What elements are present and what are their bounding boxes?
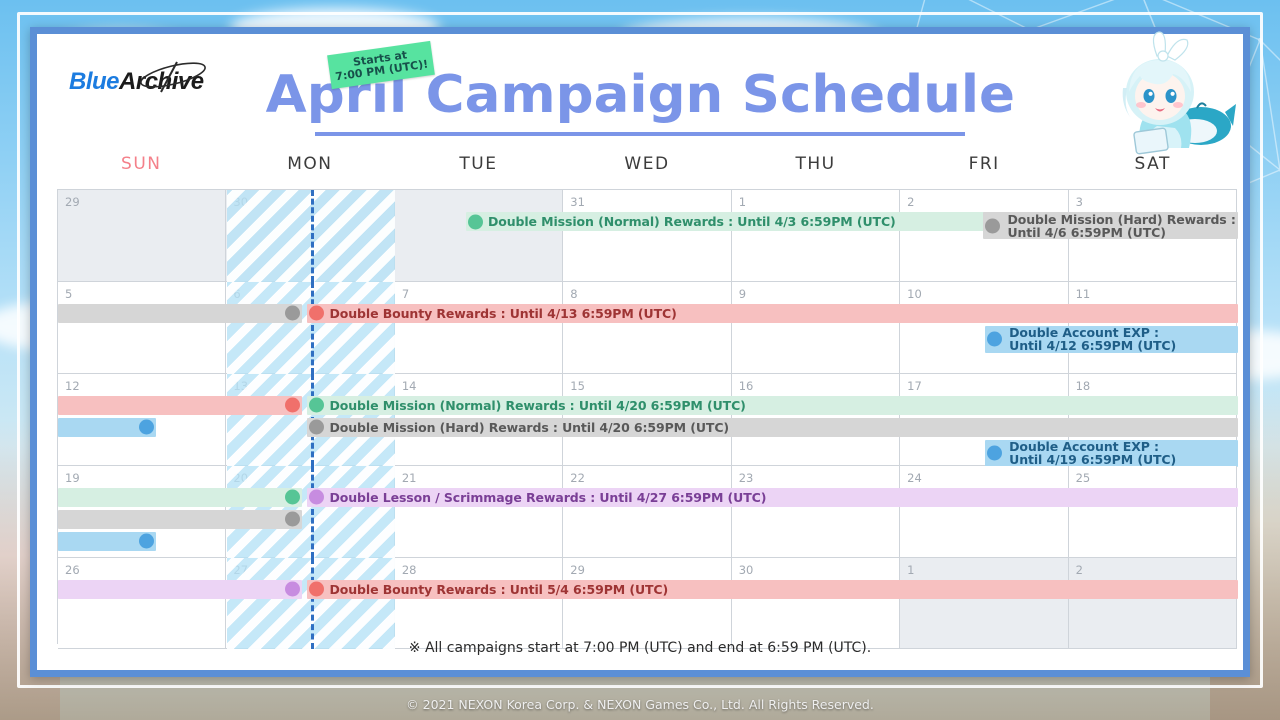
screenshot-stage: BlueArchive April Campaign Schedule — [0, 0, 1280, 720]
schedule-card: BlueArchive April Campaign Schedule — [30, 27, 1250, 677]
calendar-day-cell[interactable]: 21 — [395, 466, 563, 558]
weekday-header-tue: TUE — [394, 154, 563, 184]
calendar-day-cell[interactable]: 18 — [1069, 374, 1237, 466]
calendar-day-number: 24 — [907, 471, 922, 485]
weekday-header: SUNMONTUEWEDTHUFRISAT — [57, 154, 1237, 184]
calendar-day-number: 29 — [65, 195, 80, 209]
calendar-day-cell[interactable] — [395, 190, 563, 282]
calendar-day-number: 28 — [402, 563, 417, 577]
calendar-day-cell[interactable]: 29 — [58, 190, 226, 282]
weekday-header-fri: FRI — [900, 154, 1069, 184]
calendar-day-number: 19 — [65, 471, 80, 485]
calendar-day-number: 2 — [1076, 563, 1083, 577]
calendar-day-number: 5 — [65, 287, 72, 301]
calendar-day-cell[interactable]: 2 — [1069, 558, 1237, 650]
calendar-day-number: 23 — [739, 471, 754, 485]
calendar-grid: 293031123Double Mission (Normal) Rewards… — [57, 189, 1237, 644]
weekday-header-sat: SAT — [1068, 154, 1237, 184]
copyright-text: © 2021 NEXON Korea Corp. & NEXON Games C… — [0, 697, 1280, 712]
calendar-day-cell[interactable]: 1 — [732, 190, 900, 282]
calendar-day-number: 17 — [907, 379, 922, 393]
calendar-day-number: 7 — [402, 287, 409, 301]
calendar-day-number: 26 — [65, 563, 80, 577]
calendar-day-cell[interactable]: 30 — [732, 558, 900, 650]
calendar-day-cell[interactable]: 24 — [900, 466, 1068, 558]
calendar-day-cell[interactable]: 5 — [58, 282, 226, 374]
calendar-day-number: 22 — [570, 471, 585, 485]
calendar-week-row: 567891011Double Bounty Rewards : Until 4… — [58, 282, 1237, 374]
calendar-day-number: 9 — [739, 287, 746, 301]
calendar-day-cell[interactable]: 3 — [1069, 190, 1237, 282]
calendar-day-number: 20 — [233, 471, 248, 485]
calendar-day-number: 6 — [233, 287, 240, 301]
calendar-day-cell[interactable]: 7 — [395, 282, 563, 374]
calendar-day-cell[interactable]: 8 — [563, 282, 731, 374]
calendar-day-number: 1 — [739, 195, 746, 209]
calendar-day-number: 14 — [402, 379, 417, 393]
character-illustration — [1105, 30, 1237, 162]
calendar-day-number: 25 — [1076, 471, 1091, 485]
calendar-day-cell[interactable]: 28 — [395, 558, 563, 650]
calendar-day-number: 8 — [570, 287, 577, 301]
calendar-day-number: 30 — [739, 563, 754, 577]
calendar-day-number: 11 — [1076, 287, 1091, 301]
calendar-day-number: 21 — [402, 471, 417, 485]
calendar-day-cell[interactable]: 15 — [563, 374, 731, 466]
calendar-day-cell[interactable]: 2 — [900, 190, 1068, 282]
calendar-day-cell[interactable]: 14 — [395, 374, 563, 466]
calendar-day-cell[interactable]: 13 — [226, 374, 394, 466]
calendar-day-number: 10 — [907, 287, 922, 301]
calendar-day-number: 16 — [739, 379, 754, 393]
calendar-week-row: 19202122232425Double Lesson / Scrimmage … — [58, 466, 1237, 558]
calendar-day-number: 12 — [65, 379, 80, 393]
calendar-day-number: 30 — [233, 195, 248, 209]
footer-note: ※ All campaigns start at 7:00 PM (UTC) a… — [37, 640, 1243, 656]
calendar-day-number: 18 — [1076, 379, 1091, 393]
calendar-day-cell[interactable]: 12 — [58, 374, 226, 466]
calendar-day-number: 2 — [907, 195, 914, 209]
calendar-week-row: 262728293012Double Bounty Rewards : Unti… — [58, 558, 1237, 650]
calendar-day-cell[interactable]: 9 — [732, 282, 900, 374]
weekday-header-sun: SUN — [57, 154, 226, 184]
calendar-day-cell[interactable]: 1 — [900, 558, 1068, 650]
weekday-header-thu: THU — [731, 154, 900, 184]
calendar-day-cell[interactable]: 27 — [226, 558, 394, 650]
calendar-day-number: 13 — [233, 379, 248, 393]
calendar-day-cell[interactable]: 20 — [226, 466, 394, 558]
weekday-header-mon: MON — [226, 154, 395, 184]
calendar-day-cell[interactable]: 30 — [226, 190, 394, 282]
calendar-week-row: 12131415161718Double Mission (Normal) Re… — [58, 374, 1237, 466]
calendar-day-number: 3 — [1076, 195, 1083, 209]
title-underline — [315, 132, 965, 136]
calendar-day-number: 1 — [907, 563, 914, 577]
calendar-day-cell[interactable]: 6 — [226, 282, 394, 374]
calendar-day-cell[interactable]: 22 — [563, 466, 731, 558]
calendar-day-cell[interactable]: 23 — [732, 466, 900, 558]
page-title-block: April Campaign Schedule — [37, 64, 1243, 136]
calendar-day-cell[interactable]: 31 — [563, 190, 731, 282]
calendar-day-cell[interactable]: 25 — [1069, 466, 1237, 558]
calendar-day-cell[interactable]: 29 — [563, 558, 731, 650]
calendar-day-number: 31 — [570, 195, 585, 209]
calendar-day-cell[interactable]: 26 — [58, 558, 226, 650]
calendar-day-number: 29 — [570, 563, 585, 577]
weekday-header-wed: WED — [563, 154, 732, 184]
calendar-day-number: 15 — [570, 379, 585, 393]
calendar-day-cell[interactable]: 19 — [58, 466, 226, 558]
calendar-week-row: 293031123Double Mission (Normal) Rewards… — [58, 190, 1237, 282]
calendar-day-cell[interactable]: 10 — [900, 282, 1068, 374]
calendar-day-cell[interactable]: 11 — [1069, 282, 1237, 374]
calendar-day-number: 27 — [233, 563, 248, 577]
calendar-day-cell[interactable]: 16 — [732, 374, 900, 466]
calendar-day-cell[interactable]: 17 — [900, 374, 1068, 466]
